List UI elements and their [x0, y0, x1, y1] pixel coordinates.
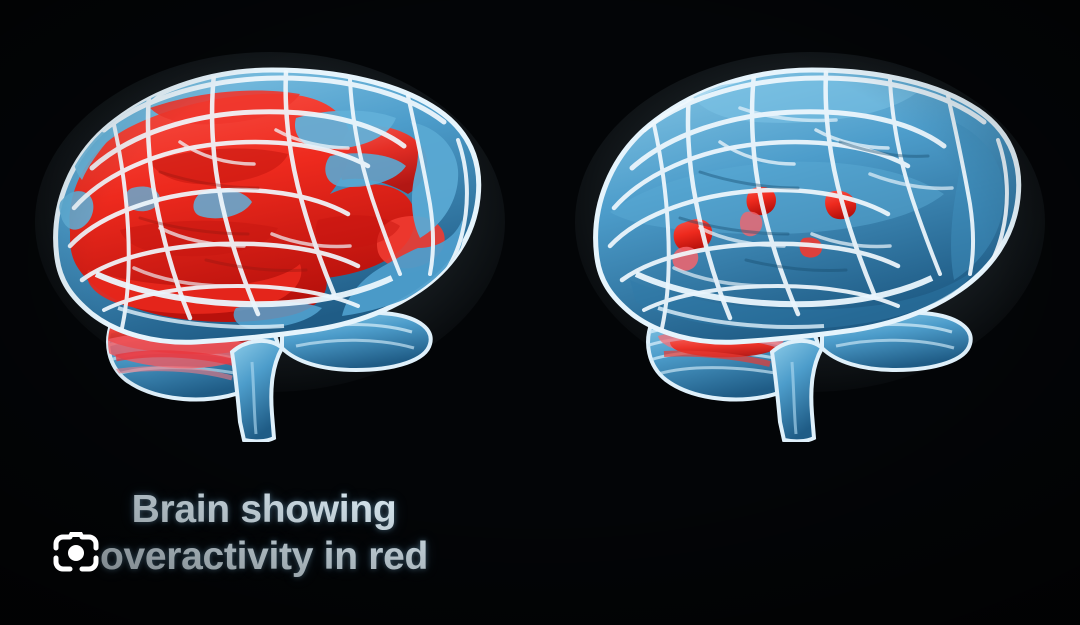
brain-illustration-overactive: [0, 22, 540, 442]
panel-post-treatment-brain: Same brain after EMDR treatment: [540, 0, 1080, 625]
camera-icon: [50, 528, 102, 576]
image-canvas: Brain showing overactivity in red: [0, 0, 1080, 625]
caption-line-1: Brain showing: [0, 486, 534, 533]
brain-illustration-post-treatment: [540, 22, 1080, 442]
